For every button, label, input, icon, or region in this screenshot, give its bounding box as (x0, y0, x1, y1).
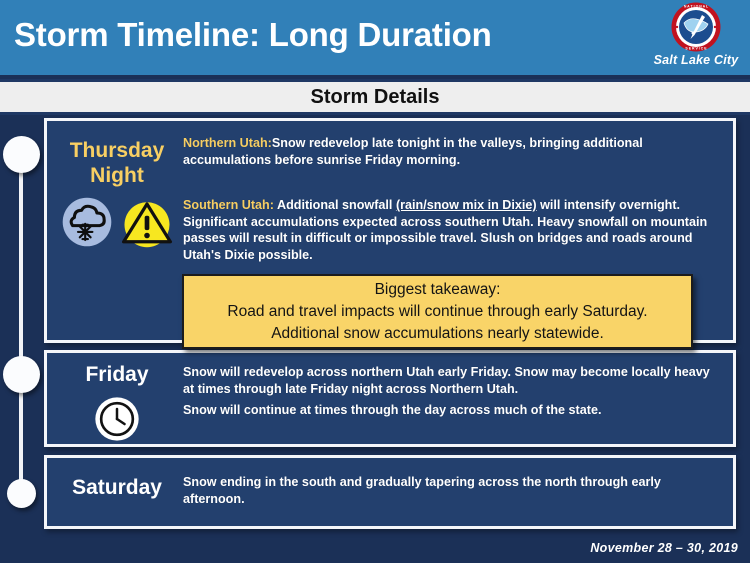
paragraph-friday-1: Snow will redevelop across northern Utah… (183, 364, 719, 397)
header-banner: Storm Timeline: Long Duration N A T I O … (0, 0, 750, 75)
warning-triangle-icon (120, 195, 174, 249)
snow-cloud-icon (60, 195, 114, 249)
day-label-friday: Friday (47, 353, 187, 388)
nws-seal-icon: N A T I O N A L S E R V I C E (671, 2, 721, 52)
icon-row-thursday-night (47, 195, 187, 249)
svg-text:N A T I O N A L: N A T I O N A L (684, 5, 709, 9)
timeline-rail (19, 150, 23, 495)
clock-icon (92, 394, 142, 444)
timeline-node-thursday-night (3, 136, 40, 173)
timeline-card-friday: Friday Snow will redevelop across northe… (44, 350, 736, 447)
paragraph-southern-utah-underlined: (rain/snow mix in Dixie) (396, 198, 537, 212)
day-column-friday: Friday (47, 353, 187, 444)
svg-text:S E R V I C E: S E R V I C E (685, 47, 707, 51)
storm-details-bar: Storm Details (0, 79, 750, 115)
day-label-thursday-night: Thursday Night (47, 121, 187, 189)
paragraph-saturday-1: Snow ending in the south and gradually t… (183, 474, 719, 507)
icon-row-friday (47, 394, 187, 444)
paragraph-southern-utah-before: Additional snowfall (274, 198, 396, 212)
paragraph-southern-utah: Southern Utah: Additional snowfall (rain… (183, 197, 725, 264)
takeaway-line-3: Additional snow accumulations nearly sta… (271, 323, 604, 345)
region-tag-southern-utah: Southern Utah: (183, 198, 274, 212)
timeline-card-saturday: Saturday Snow ending in the south and gr… (44, 455, 736, 529)
takeaway-line-2: Road and travel impacts will continue th… (227, 301, 647, 323)
nws-office-label: Salt Lake City (650, 53, 742, 67)
timeline-node-saturday (7, 479, 36, 508)
day-label-saturday: Saturday (47, 458, 187, 501)
infographic-root: Storm Timeline: Long Duration N A T I O … (0, 0, 750, 563)
timeline-node-friday (3, 356, 40, 393)
paragraph-northern-utah: Northern Utah:Snow redevelop late tonigh… (183, 135, 719, 168)
biggest-takeaway-callout: Biggest takeaway: Road and travel impact… (182, 274, 693, 349)
takeaway-line-1: Biggest takeaway: (375, 279, 501, 301)
footer-date-range: November 28 – 30, 2019 (590, 541, 738, 555)
day-column-saturday: Saturday (47, 458, 187, 501)
day-column-thursday-night: Thursday Night (47, 121, 187, 249)
region-tag-northern-utah: Northern Utah: (183, 136, 272, 150)
paragraph-friday-2: Snow will continue at times through the … (183, 402, 719, 419)
page-title: Storm Timeline: Long Duration (14, 16, 492, 54)
nws-logo-block: N A T I O N A L S E R V I C E Salt Lake … (650, 2, 742, 67)
storm-details-label: Storm Details (311, 86, 440, 109)
